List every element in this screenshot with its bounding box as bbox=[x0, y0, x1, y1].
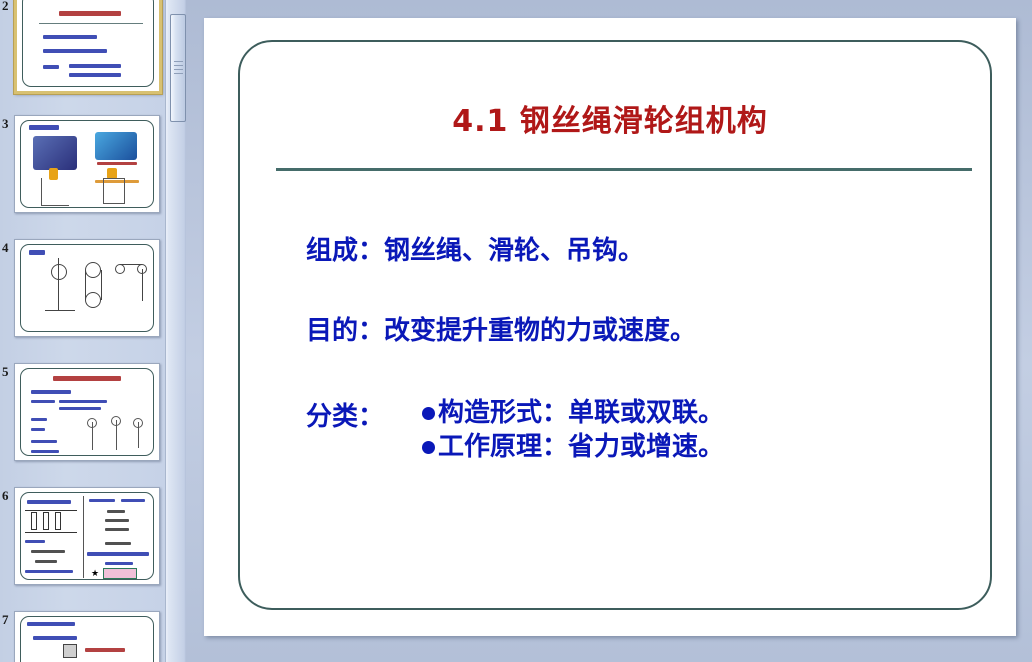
thumbnail-card-3[interactable] bbox=[14, 115, 160, 213]
mini-body-text bbox=[59, 407, 101, 410]
slide-thumbnail-pane[interactable]: 2 3 bbox=[0, 0, 165, 662]
thumbnail-number-7: 7 bbox=[2, 612, 9, 628]
current-slide[interactable]: 4.1 钢丝绳滑轮组机构 组成：钢丝绳、滑轮、吊钩。 目的：改变提升重物的力或速… bbox=[204, 18, 1016, 636]
thumbnail-card-2[interactable] bbox=[14, 0, 162, 94]
mini-formula bbox=[105, 542, 131, 545]
mini-body-text bbox=[43, 65, 59, 69]
thumbnail-preview-7 bbox=[15, 612, 159, 662]
mini-body-text bbox=[25, 540, 45, 543]
mini-formula bbox=[105, 519, 129, 522]
mini-pulley bbox=[85, 292, 101, 308]
classification-item-structure: 构造形式：单联或双联。 bbox=[422, 396, 724, 430]
slide-stage: 4.1 钢丝绳滑轮组机构 组成：钢丝绳、滑轮、吊钩。 目的：改变提升重物的力或速… bbox=[186, 0, 1032, 662]
mini-formula bbox=[121, 499, 145, 502]
mini-photo-hoist bbox=[33, 136, 77, 170]
thumbnail-card-7[interactable] bbox=[14, 611, 160, 662]
mini-rope bbox=[138, 422, 139, 448]
mini-rope bbox=[142, 269, 143, 301]
mini-title-text bbox=[59, 11, 121, 16]
mini-body-text bbox=[31, 400, 55, 403]
mini-body-text bbox=[31, 440, 57, 443]
thumbnail-preview-6: ★ bbox=[15, 488, 159, 584]
mini-frame bbox=[20, 492, 154, 580]
mini-pulley bbox=[51, 264, 67, 280]
mini-formula bbox=[35, 560, 57, 563]
slide-classification-label: 分类： bbox=[306, 396, 384, 433]
thumbnail-number-2: 2 bbox=[2, 0, 9, 14]
mini-formula bbox=[31, 550, 65, 553]
thumbnail-card-5[interactable] bbox=[14, 363, 160, 461]
thumbnail-preview-4 bbox=[15, 240, 159, 336]
mini-pulley bbox=[115, 264, 125, 274]
classification-item-principle: 工作原理：省力或增速。 bbox=[422, 430, 724, 464]
thumbnail-slide-5[interactable]: 5 bbox=[0, 360, 165, 464]
mini-highlight-box bbox=[103, 568, 137, 579]
mini-formula bbox=[87, 552, 149, 556]
mini-body-text bbox=[31, 450, 59, 453]
mini-formula bbox=[89, 499, 115, 502]
thumbnail-number-4: 4 bbox=[2, 240, 9, 256]
mini-heading bbox=[27, 622, 75, 626]
mini-baseline bbox=[25, 532, 77, 533]
slide-title: 4.1 钢丝绳滑轮组机构 bbox=[204, 96, 1016, 140]
slide-line-purpose: 目的：改变提升重物的力或速度。 bbox=[306, 310, 696, 347]
mini-caption bbox=[97, 162, 137, 165]
mini-rope bbox=[85, 270, 86, 300]
presentation-window: 2 3 bbox=[0, 0, 1032, 662]
scrollbar-thumb[interactable] bbox=[170, 14, 186, 122]
thumbnail-number-6: 6 bbox=[2, 488, 9, 504]
thumbnail-slide-3[interactable]: 3 bbox=[0, 112, 165, 216]
mini-body-text bbox=[59, 400, 107, 403]
mini-pulley bbox=[85, 262, 101, 278]
slide-classification-list: 构造形式：单联或双联。 工作原理：省力或增速。 bbox=[422, 396, 724, 465]
mini-title-text bbox=[29, 125, 59, 130]
mini-divider bbox=[83, 496, 84, 578]
mini-heading bbox=[27, 500, 71, 504]
mini-formula bbox=[107, 510, 125, 513]
mini-rope bbox=[92, 422, 93, 450]
slide-line-composition: 组成：钢丝绳、滑轮、吊钩。 bbox=[306, 230, 644, 267]
thumbnail-slide-4[interactable]: 4 bbox=[0, 236, 165, 340]
mini-heading bbox=[31, 390, 71, 394]
mini-rope bbox=[116, 420, 117, 450]
mini-body-text bbox=[43, 35, 97, 39]
thumbnail-number-5: 5 bbox=[2, 364, 9, 380]
thumbnail-card-6[interactable]: ★ bbox=[14, 487, 160, 585]
bullet-icon bbox=[422, 441, 435, 454]
mini-star-icon: ★ bbox=[91, 570, 99, 578]
scrollbar-track[interactable] bbox=[168, 0, 184, 662]
mini-formula bbox=[85, 648, 125, 652]
mini-title-text bbox=[53, 376, 121, 381]
mini-schematic bbox=[103, 178, 125, 204]
title-divider-rule bbox=[276, 168, 972, 171]
mini-rope bbox=[120, 264, 142, 265]
mini-body-text bbox=[31, 418, 47, 421]
thumbnail-slide-2[interactable]: 2 bbox=[0, 0, 165, 96]
mini-body-text bbox=[33, 636, 77, 640]
mini-rope bbox=[101, 270, 102, 300]
mini-cursor-icon bbox=[63, 644, 77, 658]
mini-pulley-unit bbox=[55, 512, 61, 530]
classification-item-principle-text: 工作原理：省力或增速。 bbox=[438, 432, 724, 462]
thumbnail-preview-3 bbox=[15, 116, 159, 212]
mini-title-text bbox=[29, 250, 45, 255]
thumbnail-preview-2 bbox=[17, 0, 159, 91]
mini-ground bbox=[45, 310, 75, 311]
thumbnail-number-3: 3 bbox=[2, 116, 9, 132]
mini-body-text bbox=[69, 64, 121, 68]
mini-photo-motor bbox=[95, 132, 137, 160]
mini-body-text bbox=[25, 570, 73, 573]
mini-rule bbox=[39, 23, 143, 24]
mini-formula bbox=[105, 528, 129, 531]
mini-formula bbox=[105, 562, 133, 565]
thumbnail-slide-6[interactable]: 6 bbox=[0, 484, 165, 588]
mini-frame bbox=[20, 244, 154, 332]
thumbnail-card-4[interactable] bbox=[14, 239, 160, 337]
thumbnail-scrollbar[interactable] bbox=[165, 0, 185, 662]
bullet-icon bbox=[422, 407, 435, 420]
thumbnail-preview-5 bbox=[15, 364, 159, 460]
mini-pulley-unit bbox=[31, 512, 37, 530]
mini-rope bbox=[58, 258, 59, 310]
mini-pulley-unit bbox=[43, 512, 49, 530]
mini-body-text bbox=[43, 49, 107, 53]
mini-ceiling bbox=[25, 510, 77, 511]
thumbnail-slide-7[interactable]: 7 bbox=[0, 608, 165, 662]
mini-body-text bbox=[69, 73, 121, 77]
mini-schematic bbox=[41, 178, 69, 206]
classification-item-structure-text: 构造形式：单联或双联。 bbox=[438, 398, 724, 428]
mini-body-text bbox=[31, 428, 45, 431]
